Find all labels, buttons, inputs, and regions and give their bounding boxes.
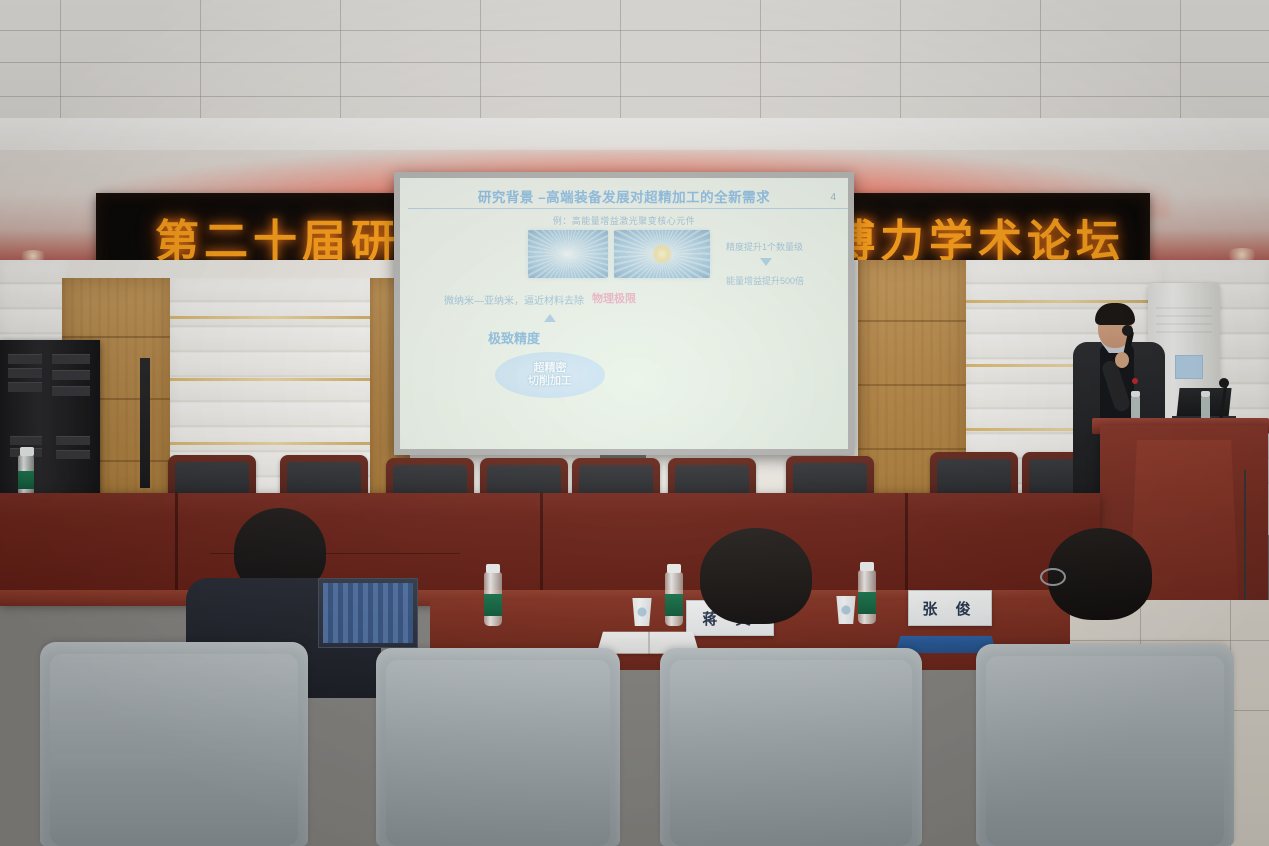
conference-hall-photo: 第二十届研究 生博力学术论坛	[0, 0, 1269, 846]
nameplate-text: 张 俊	[922, 598, 977, 619]
speaker-hair	[1095, 303, 1135, 325]
bottle-on-rack	[18, 455, 34, 497]
ac-label-sticker	[1175, 355, 1203, 379]
slide-subtitle: 例：高能量增益激光聚变核心元件	[400, 214, 848, 227]
slide-page-number: 4	[830, 192, 836, 203]
nameplate-zhang: 张 俊	[908, 590, 992, 626]
slide-image-laser-left	[528, 230, 608, 278]
slide-divider	[408, 208, 848, 209]
slide-note-energy: 能量增益提升500倍	[726, 274, 804, 287]
slide-oval-callout: 超精密 切削加工	[495, 352, 605, 398]
row-chair[interactable]	[930, 452, 1018, 494]
arrow-up-icon	[544, 314, 556, 322]
slide-mid-text: 微纳米—亚纳米，逼近材料去除	[444, 292, 584, 307]
water-bottle	[484, 572, 502, 626]
water-bottle	[665, 572, 683, 626]
gooseneck-microphone-head-icon	[1219, 378, 1229, 388]
slide-content: 研究背景 –高端装备发展对超精加工的全新需求 4 例：高能量增益激光聚变核心元件…	[400, 178, 848, 449]
audience-chair[interactable]	[660, 648, 922, 846]
projection-screen: 研究背景 –高端装备发展对超精加工的全新需求 4 例：高能量增益激光聚变核心元件…	[394, 172, 854, 455]
audience-chair[interactable]	[976, 644, 1234, 846]
microphone-head-icon	[1122, 325, 1133, 336]
podium-cable	[1244, 470, 1246, 620]
speaker-hand	[1115, 352, 1129, 368]
slide-lower-text: 极致精度	[400, 328, 738, 347]
water-bottle	[858, 570, 876, 624]
audience-laptop[interactable]	[318, 578, 418, 648]
lapel-pin-icon	[1132, 378, 1138, 384]
podium-bottle-cap	[1201, 391, 1210, 397]
oval-line-1: 超精密	[534, 362, 567, 375]
audience-chair[interactable]	[40, 642, 308, 846]
wall-vent-strip	[140, 358, 150, 488]
conference-table	[0, 493, 1100, 603]
podium-bottle-cap	[1131, 391, 1140, 397]
equipment-rack	[0, 340, 100, 495]
arrow-down-icon	[760, 258, 772, 266]
audience-head	[700, 528, 812, 624]
oval-line-2: 切削加工	[528, 375, 572, 388]
row-chair[interactable]	[168, 455, 256, 497]
slide-note-precision: 精度提升1个数量级	[726, 240, 803, 253]
slide-image-laser-right	[614, 230, 710, 278]
audience-chair[interactable]	[376, 648, 620, 846]
glasses-icon	[1040, 568, 1066, 586]
row-chair[interactable]	[786, 456, 874, 498]
slide-title: 研究背景 –高端装备发展对超精加工的全新需求	[400, 186, 848, 206]
row-chair[interactable]	[280, 455, 368, 497]
slide-mid-highlight: 物理极限	[592, 290, 636, 306]
